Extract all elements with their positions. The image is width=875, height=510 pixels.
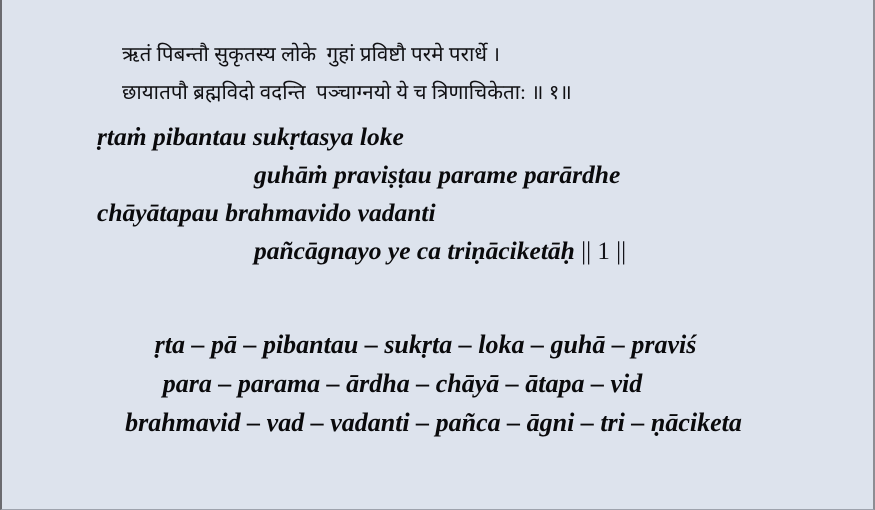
word-split-line-3: brahmavid – vad – vadanti – pañca – āgni… bbox=[2, 403, 875, 442]
transliteration-line-2: guhāṁ praviṣṭau parame parārdhe bbox=[2, 156, 875, 194]
word-split-block: ṛta – pā – pibantau – sukṛta – loka – gu… bbox=[2, 325, 875, 442]
devanagari-line-2: छायातपौ ब्रह्मविदो वदन्ति पञ्चाग्नयो ये … bbox=[2, 74, 875, 112]
word-split-line-1: ṛta – pā – pibantau – sukṛta – loka – gu… bbox=[2, 325, 875, 364]
transliteration-line-4-text: pañcāgnayo ye ca triṇāciketāḥ bbox=[254, 236, 575, 265]
transliteration-line-3: chāyātapau brahmavido vadanti bbox=[2, 194, 875, 232]
devanagari-verse-block: ऋतं पिबन्तौ सुकृतस्य लोके गुहां प्रविष्ट… bbox=[2, 36, 875, 112]
word-split-line-2: para – parama – ārdha – chāyā – ātapa – … bbox=[2, 364, 875, 403]
transliteration-verse-block: ṛtaṁ pibantau sukṛtasya loke guhāṁ pravi… bbox=[2, 118, 875, 271]
transliteration-line-4: pañcāgnayo ye ca triṇāciketāḥ || 1 || bbox=[2, 232, 875, 271]
transliteration-line-1: ṛtaṁ pibantau sukṛtasya loke bbox=[2, 118, 875, 156]
slide-canvas: ऋतं पिबन्तौ सुकृतस्य लोके गुहां प्रविष्ट… bbox=[0, 0, 875, 510]
verse-number: || 1 || bbox=[575, 238, 626, 265]
devanagari-line-1: ऋतं पिबन्तौ सुकृतस्य लोके गुहां प्रविष्ट… bbox=[2, 36, 875, 74]
